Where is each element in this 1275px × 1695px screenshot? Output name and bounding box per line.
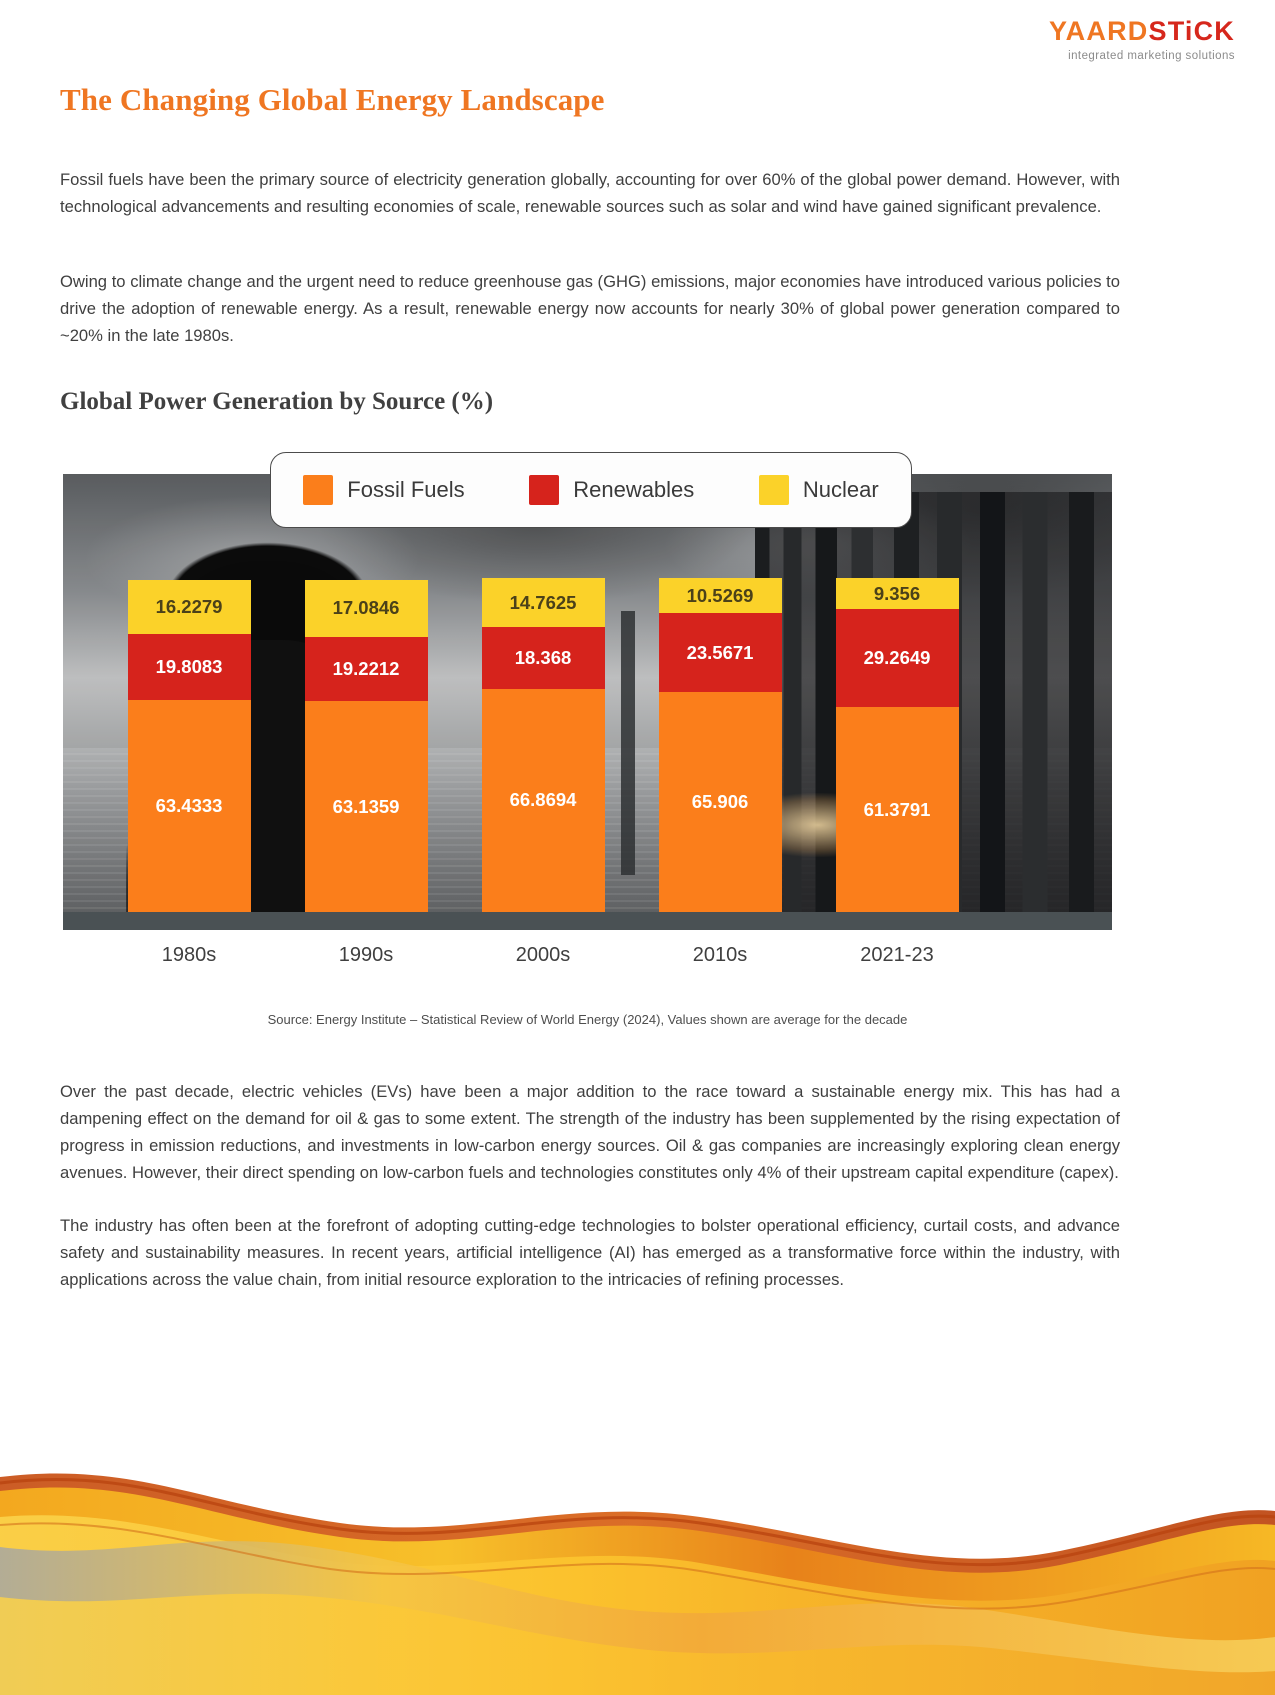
legend-item-label: Fossil Fuels xyxy=(347,477,464,503)
footer-wave-svg xyxy=(0,1365,1275,1695)
x-axis-label-2021-23: 2021-23 xyxy=(817,944,977,967)
paragraph-body-2: The industry has often been at the foref… xyxy=(60,1212,1120,1293)
bar-value-label: 19.8083 xyxy=(156,656,223,678)
bar-group-2021-23[interactable]: 9.35629.264961.3791 xyxy=(850,578,945,912)
bar-group-2000s[interactable]: 14.762518.36866.8694 xyxy=(496,578,591,912)
bar-value-label: 18.368 xyxy=(515,647,572,669)
paragraph-body-1: Over the past decade, electric vehicles … xyxy=(60,1078,1120,1186)
logo-tagline: integrated marketing solutions xyxy=(1049,51,1235,63)
bar-group-1990s[interactable]: 17.084619.221263.1359 xyxy=(319,580,414,912)
footer-wave-decoration xyxy=(0,1365,1275,1695)
chart-heading: Global Power Generation by Source (%) xyxy=(60,388,493,416)
document-page: YAARDSTiCK integrated marketing solution… xyxy=(0,0,1275,1695)
x-axis-label-1990s: 1990s xyxy=(286,944,446,967)
brand-logo: YAARDSTiCK integrated marketing solution… xyxy=(1049,18,1235,63)
legend-item-renewables[interactable]: Renewables xyxy=(529,475,694,505)
bar-segment-fossil-fuels: 65.906 xyxy=(659,692,782,912)
legend-swatch-icon xyxy=(759,475,789,505)
x-axis-label-2010s: 2010s xyxy=(640,944,800,967)
legend-swatch-icon xyxy=(303,475,333,505)
chart-plot-area: 16.227919.808363.433317.084619.221263.13… xyxy=(63,474,1112,930)
bar-segment-nuclear: 17.0846 xyxy=(305,580,428,637)
bar-segment-nuclear: 10.5269 xyxy=(659,578,782,613)
x-axis-label-1980s: 1980s xyxy=(109,944,269,967)
bar-value-label: 63.1359 xyxy=(333,796,400,818)
bar-group-2010s[interactable]: 10.526923.567165.906 xyxy=(673,578,768,912)
logo-wordmark-second: STiCK xyxy=(1148,16,1235,46)
page-title: The Changing Global Energy Landscape xyxy=(60,82,605,118)
bar-value-label: 63.4333 xyxy=(156,795,223,817)
bar-value-label: 17.0846 xyxy=(333,597,400,619)
bar-value-label: 66.8694 xyxy=(510,789,577,811)
bar-segment-fossil-fuels: 63.1359 xyxy=(305,701,428,912)
bar-segment-renewables: 19.2212 xyxy=(305,637,428,701)
x-axis-label-2000s: 2000s xyxy=(463,944,623,967)
bar-segment-renewables: 29.2649 xyxy=(836,609,959,707)
paragraph-intro-2: Owing to climate change and the urgent n… xyxy=(60,268,1120,349)
legend-swatch-icon xyxy=(529,475,559,505)
chart-container: 16.227919.808363.433317.084619.221263.13… xyxy=(63,474,1112,930)
bar-segment-renewables: 19.8083 xyxy=(128,634,251,700)
bar-segment-nuclear: 16.2279 xyxy=(128,580,251,634)
bar-segment-fossil-fuels: 63.4333 xyxy=(128,700,251,912)
legend-item-nuclear[interactable]: Nuclear xyxy=(759,475,879,505)
bar-segment-nuclear: 9.356 xyxy=(836,578,959,609)
logo-wordmark: YAARDSTiCK xyxy=(1049,18,1235,45)
bar-value-label: 61.3791 xyxy=(864,799,931,821)
legend-item-fossil-fuels[interactable]: Fossil Fuels xyxy=(303,475,464,505)
bar-value-label: 14.7625 xyxy=(510,592,577,614)
legend-item-label: Nuclear xyxy=(803,477,879,503)
bar-value-label: 65.906 xyxy=(692,791,749,813)
bar-value-label: 29.2649 xyxy=(864,647,931,669)
bar-value-label: 9.356 xyxy=(874,583,920,605)
bar-value-label: 19.2212 xyxy=(333,658,400,680)
bar-segment-fossil-fuels: 61.3791 xyxy=(836,707,959,912)
chart-legend: Fossil FuelsRenewablesNuclear xyxy=(270,452,912,528)
logo-wordmark-first: YAARD xyxy=(1049,16,1149,46)
bar-segment-nuclear: 14.7625 xyxy=(482,578,605,627)
bar-segment-renewables: 23.5671 xyxy=(659,613,782,692)
bar-segment-fossil-fuels: 66.8694 xyxy=(482,689,605,912)
bar-value-label: 10.5269 xyxy=(687,585,754,607)
legend-item-label: Renewables xyxy=(573,477,694,503)
bar-segment-renewables: 18.368 xyxy=(482,627,605,688)
bar-value-label: 16.2279 xyxy=(156,596,223,618)
paragraph-intro-1: Fossil fuels have been the primary sourc… xyxy=(60,166,1120,220)
chart-source-note: Source: Energy Institute – Statistical R… xyxy=(0,1012,1175,1027)
bar-value-label: 23.5671 xyxy=(687,642,754,664)
bar-group-1980s[interactable]: 16.227919.808363.4333 xyxy=(142,580,237,912)
